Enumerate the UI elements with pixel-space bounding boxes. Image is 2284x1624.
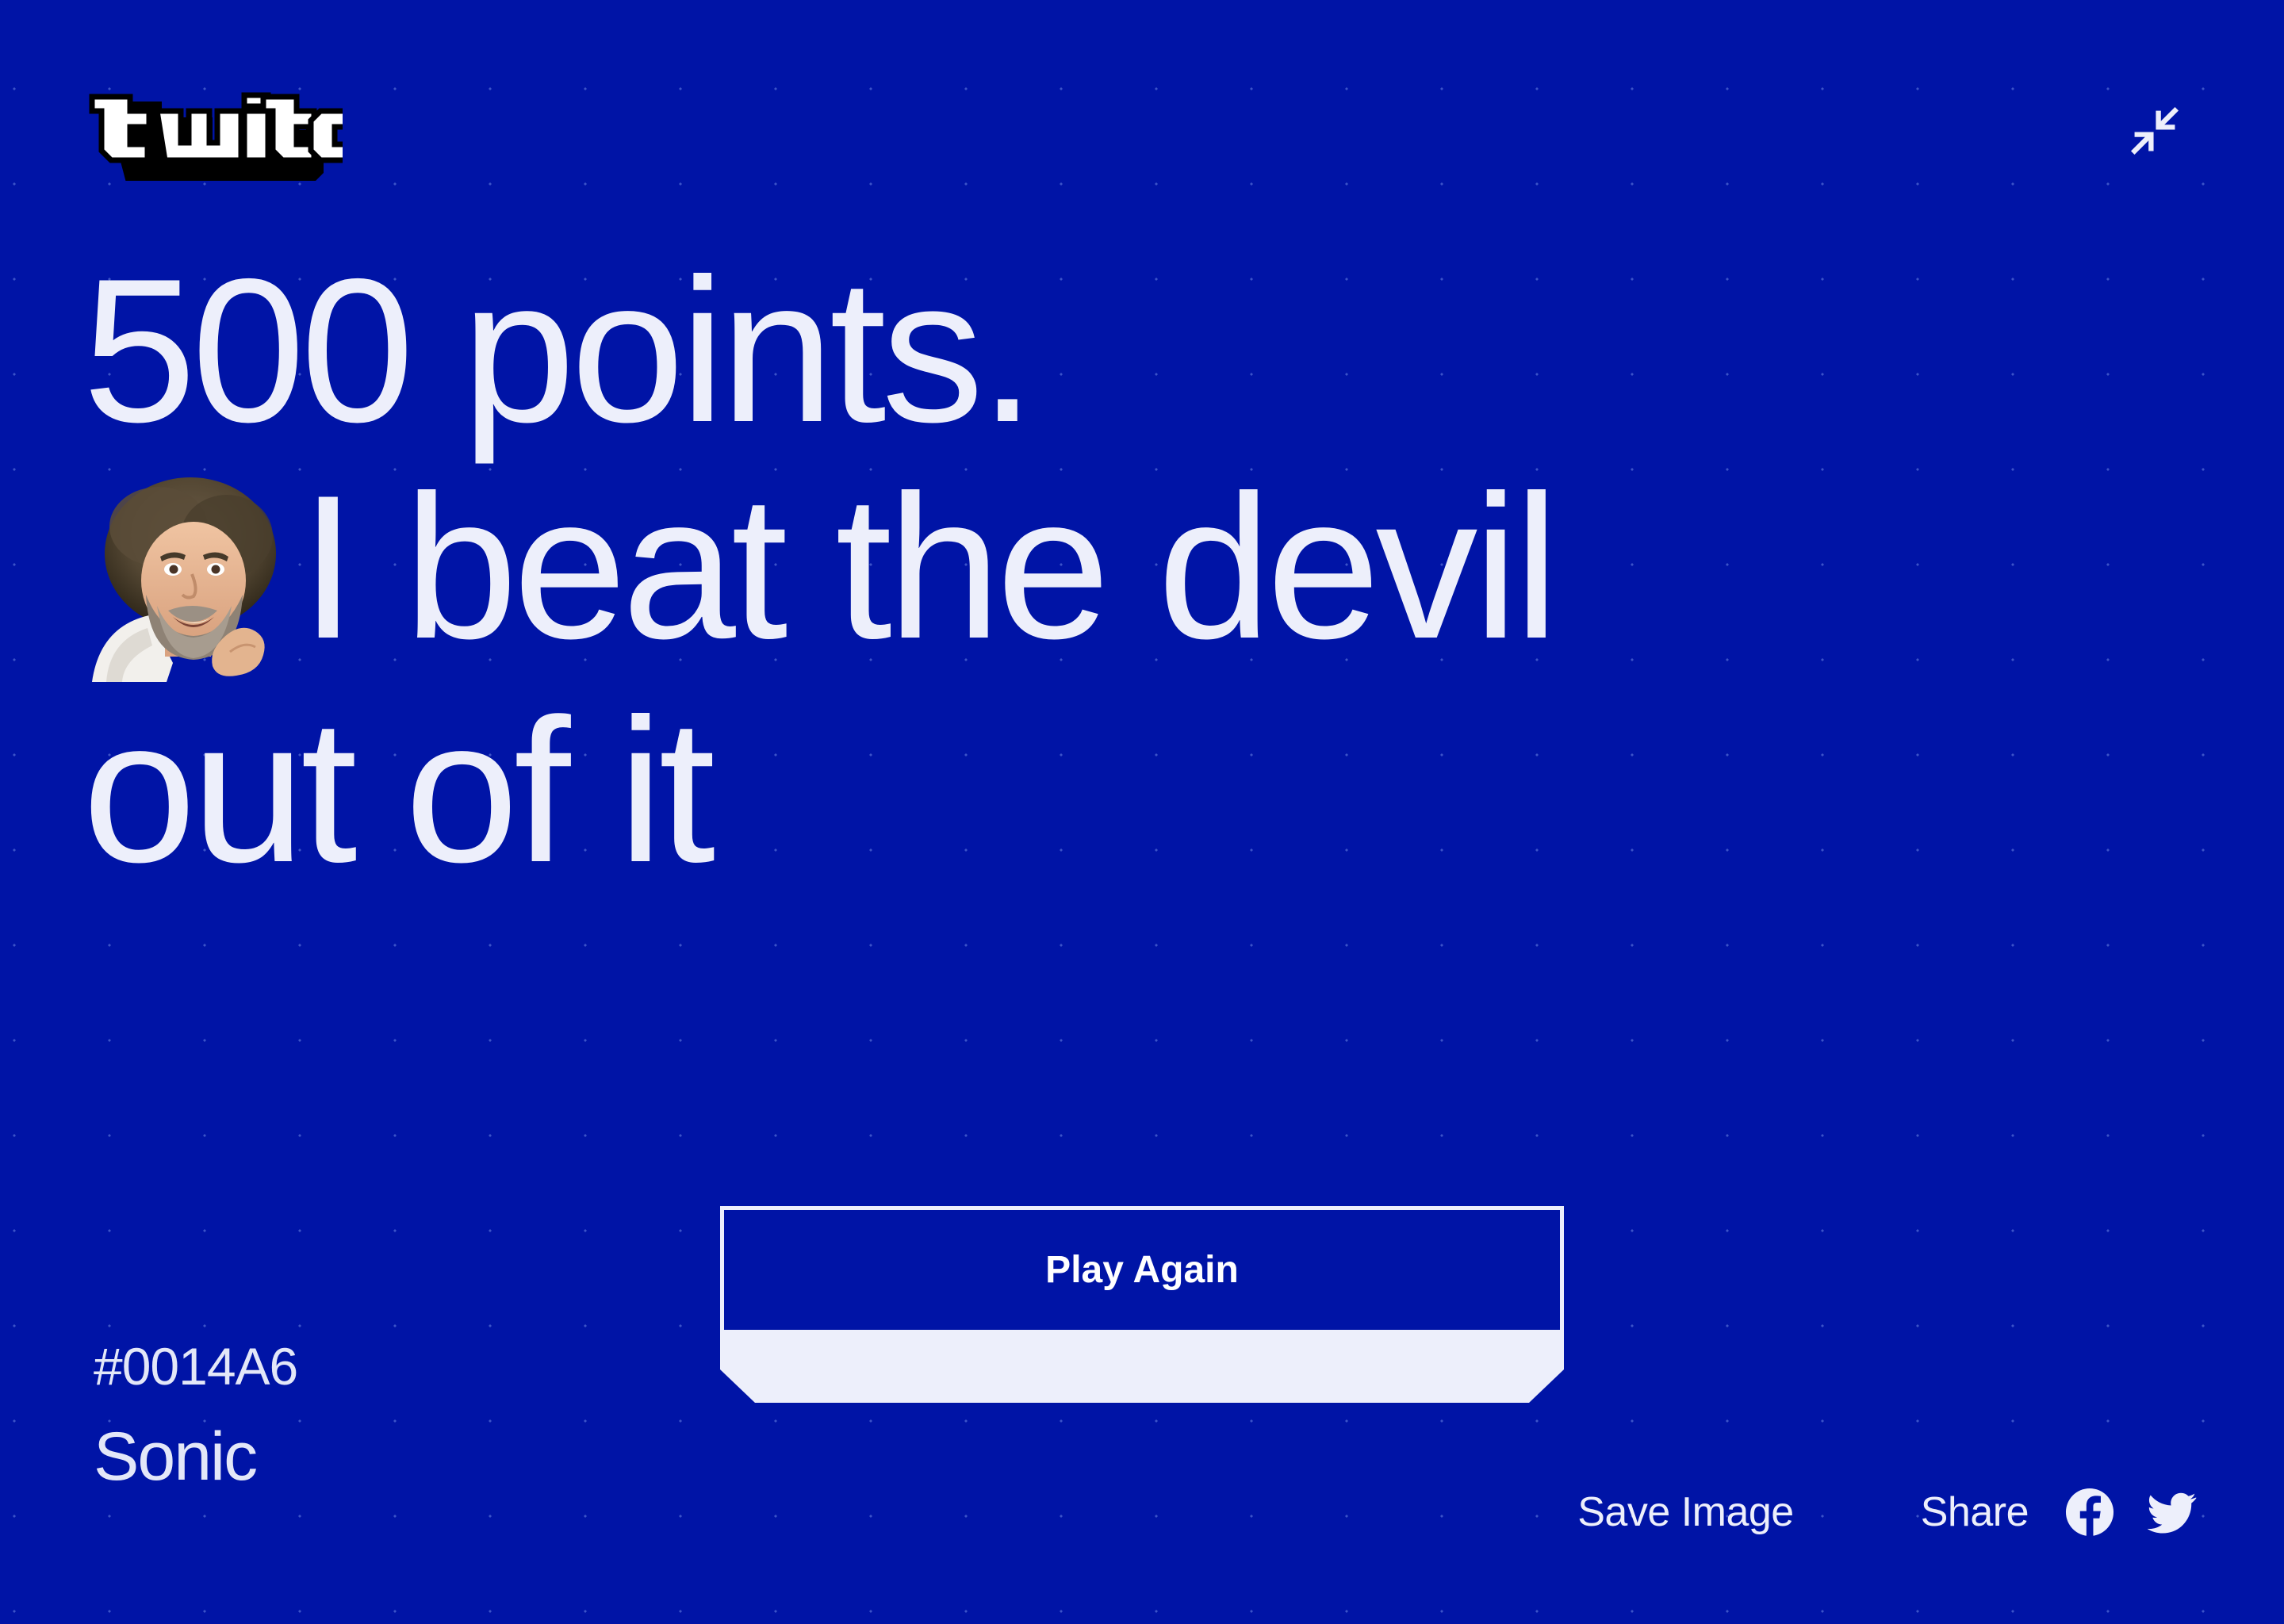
- twitch-wordmark-logo[interactable]: [89, 86, 343, 181]
- color-name: Sonic: [94, 1423, 297, 1491]
- twitch-logo-icon: [89, 86, 343, 181]
- headline-line-2: I beat the devil: [300, 452, 1554, 681]
- share-actions: Save Image Share: [1577, 1488, 2197, 1537]
- twitter-icon[interactable]: [2148, 1488, 2197, 1537]
- play-again-button-face: Play Again: [720, 1206, 1564, 1334]
- play-again-button[interactable]: Play Again: [720, 1206, 1564, 1404]
- headline-line-2-wrap: I beat the devil: [82, 458, 2176, 682]
- color-hex-code: #0014A6: [94, 1340, 297, 1392]
- collapse-arrows-icon: [2125, 101, 2184, 160]
- share-label: Share: [1921, 1488, 2029, 1536]
- result-headline: 500 points.: [82, 242, 2176, 899]
- save-image-button[interactable]: Save Image: [1577, 1488, 1794, 1536]
- bob-ross-emote-icon: [82, 469, 295, 682]
- headline-line-1: 500 points.: [82, 242, 2176, 458]
- bob-ross-emote: [82, 469, 295, 682]
- collapse-button[interactable]: [2111, 87, 2198, 174]
- color-meta: #0014A6 Sonic: [94, 1340, 297, 1491]
- headline-line-3: out of it: [82, 682, 2176, 898]
- canvas-stage: 500 points.: [0, 0, 2284, 1624]
- play-again-label: Play Again: [1045, 1248, 1239, 1292]
- facebook-icon[interactable]: [2065, 1488, 2114, 1537]
